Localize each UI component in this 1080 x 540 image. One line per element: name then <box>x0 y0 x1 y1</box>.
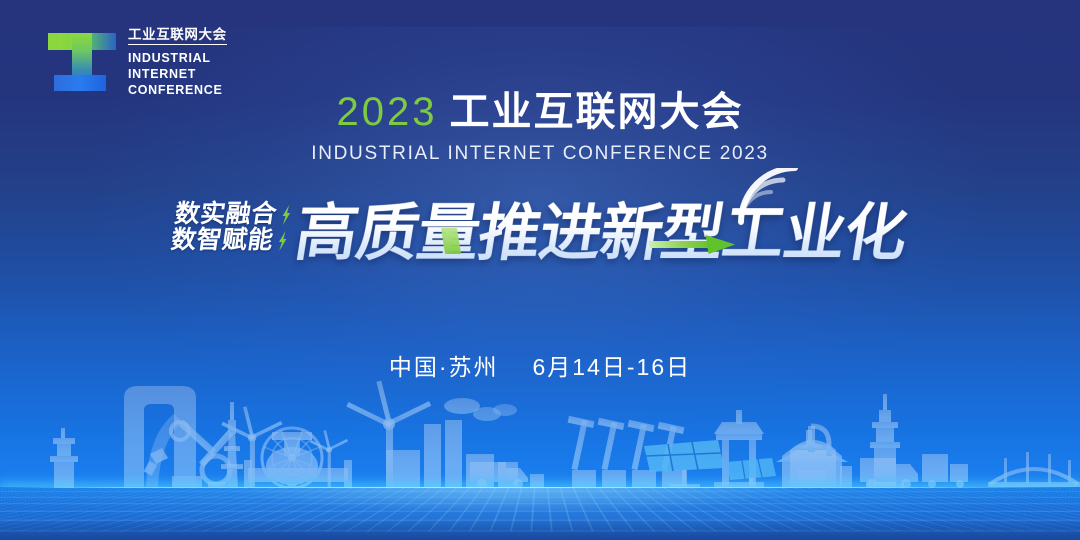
wifi-signal-arc-icon <box>735 168 799 226</box>
logo-en-line-1: INDUSTRIAL <box>128 50 227 66</box>
tv-tower-icon <box>221 402 243 488</box>
suspension-bridge-icon <box>988 452 1080 487</box>
title-subtitle: INDUSTRIAL INTERNET CONFERENCE 2023 <box>0 143 1080 165</box>
gate-of-the-orient-icon <box>124 386 196 488</box>
lightning-bolt-icon-2 <box>277 230 289 250</box>
slogan-line-2: 数智赋能 <box>169 227 287 253</box>
industrial-i-beam-logo-icon <box>48 31 116 93</box>
conference-banner: 工业互联网大会 INDUSTRIAL INTERNET CONFERENCE 2… <box>0 0 1080 540</box>
logo-text-group: 工业互联网大会 INDUSTRIAL INTERNET CONFERENCE <box>128 26 227 98</box>
logo-bottom-bar <box>54 75 106 91</box>
green-arrow-icon <box>648 234 737 254</box>
logistics-truck-icon <box>860 454 968 488</box>
floor-shadow <box>0 518 1080 540</box>
slogan-block: 数实融合 数智赋能 高质量推进新型工业化 <box>0 182 1080 272</box>
city-industry-skyline <box>0 358 1080 488</box>
logo-chinese-name: 工业互联网大会 <box>128 28 227 45</box>
page-title: 2023工业互联网大会 <box>0 92 1080 132</box>
storage-tank-icon <box>790 426 852 488</box>
slogan-secondary-lines: 数实融合 数智赋能 <box>169 202 291 253</box>
conference-logo[interactable]: 工业互联网大会 INDUSTRIAL INTERNET CONFERENCE <box>48 26 227 98</box>
slogan-main-text: 高质量推进新型工业化 <box>290 182 914 272</box>
perspective-grid-floor <box>0 488 1080 540</box>
title-year: 2023 <box>337 90 438 134</box>
slogan-line-1: 数实融合 <box>173 202 291 228</box>
logo-english-name: INDUSTRIAL INTERNET CONFERENCE <box>128 50 227 98</box>
title-chinese: 工业互联网大会 <box>449 90 743 134</box>
lightning-bolt-icon <box>281 205 293 225</box>
pagoda-tower-icon-2 <box>46 428 82 488</box>
slogan-line-2-text: 数智赋能 <box>169 225 275 253</box>
title-block: 2023工业互联网大会 INDUSTRIAL INTERNET CONFEREN… <box>0 92 1080 165</box>
slogan-line-1-text: 数实融合 <box>173 200 279 228</box>
logo-en-line-2: INTERNET <box>128 66 227 82</box>
ferris-wheel-icon <box>262 428 322 488</box>
